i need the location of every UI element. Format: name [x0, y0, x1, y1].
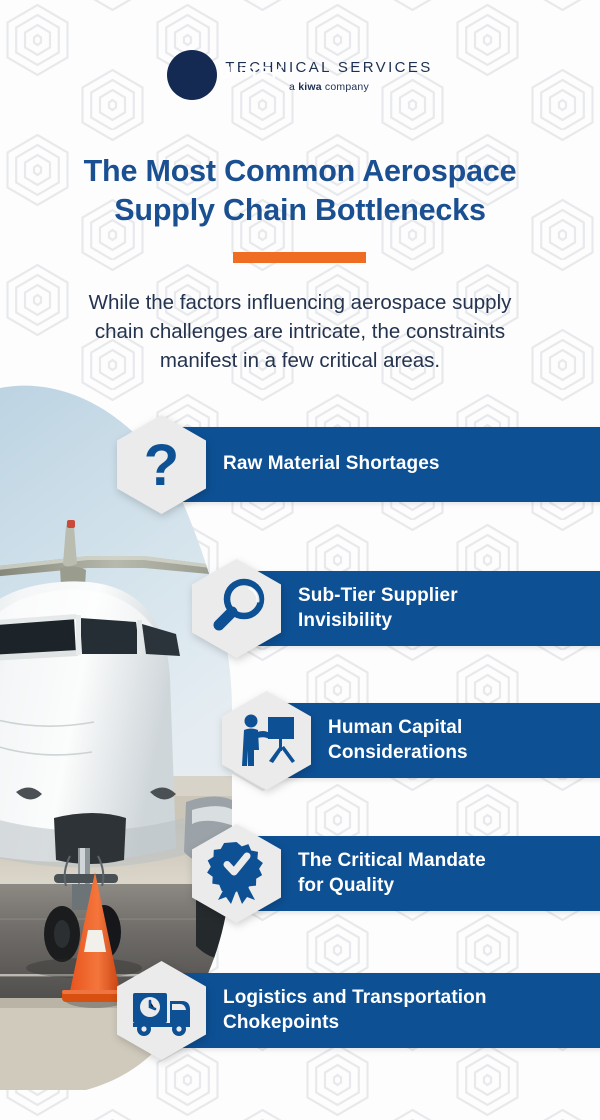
bottleneck-label-2-line-2: Invisibility [298, 609, 458, 633]
logo-tagline-pre: a [289, 81, 298, 93]
bottleneck-label-2: Sub-Tier Supplier Invisibility [298, 584, 458, 633]
bottleneck-label-5-line-2: Chokepoints [223, 1011, 487, 1035]
svg-text:?: ? [144, 433, 179, 498]
page-title-line-2: Supply Chain Bottlenecks [22, 191, 578, 230]
delivery-truck-icon [110, 959, 213, 1062]
bottleneck-item-1[interactable]: Raw Material Shortages ? [110, 427, 560, 502]
page-title-line-1: The Most Common Aerospace [22, 152, 578, 191]
logo-circle-mark [167, 50, 217, 100]
bottleneck-label-3-line-1: Human Capital [328, 716, 468, 740]
bottleneck-item-5[interactable]: Logistics and Transportation Chokepoints [110, 973, 560, 1048]
bottleneck-label-1: Raw Material Shortages [223, 452, 440, 476]
page-subtitle-line-3: manifest in a few critical areas. [30, 346, 570, 375]
magnifier-icon [185, 557, 288, 660]
title-divider [233, 252, 366, 263]
bottleneck-bar-2[interactable]: Sub-Tier Supplier Invisibility [237, 571, 600, 646]
page-subtitle: While the factors influencing aerospace … [30, 288, 570, 375]
bottleneck-bar-5[interactable]: Logistics and Transportation Chokepoints [162, 973, 600, 1048]
bottleneck-item-4[interactable]: The Critical Mandate for Quality [185, 836, 560, 911]
quality-ribbon-icon [185, 822, 288, 925]
page-title: The Most Common Aerospace Supply Chain B… [22, 152, 578, 230]
bottleneck-label-4-line-2: for Quality [298, 874, 486, 898]
question-mark-icon: ? [110, 413, 213, 516]
bottleneck-label-5: Logistics and Transportation Chokepoints [223, 986, 487, 1035]
page-subtitle-line-2: chain challenges are intricate, the cons… [30, 317, 570, 346]
bottleneck-label-1-line-1: Raw Material Shortages [223, 452, 440, 476]
bottleneck-label-4-line-1: The Critical Mandate [298, 849, 486, 873]
brand-logo: TECHNICAL SERVICES a kiwa company [0, 50, 600, 100]
bottleneck-label-4: The Critical Mandate for Quality [298, 849, 486, 898]
bottleneck-label-2-line-1: Sub-Tier Supplier [298, 584, 458, 608]
bottleneck-bar-1[interactable]: Raw Material Shortages [162, 427, 600, 502]
page-subtitle-line-1: While the factors influencing aerospace … [30, 288, 570, 317]
logo-circle-text: UNITEK [219, 64, 284, 83]
bottleneck-label-3-line-2: Considerations [328, 741, 468, 765]
bottleneck-label-3: Human Capital Considerations [328, 716, 468, 765]
logo-tagline: a kiwa company [225, 82, 432, 93]
bottleneck-item-3[interactable]: Human Capital Considerations [215, 703, 560, 778]
presenter-icon [215, 689, 318, 792]
logo-tagline-brand: kiwa [298, 81, 322, 93]
logo-tagline-post: company [322, 81, 369, 93]
bottleneck-bar-4[interactable]: The Critical Mandate for Quality [237, 836, 600, 911]
bottleneck-item-2[interactable]: Sub-Tier Supplier Invisibility [185, 571, 560, 646]
bottleneck-label-5-line-1: Logistics and Transportation [223, 986, 487, 1010]
